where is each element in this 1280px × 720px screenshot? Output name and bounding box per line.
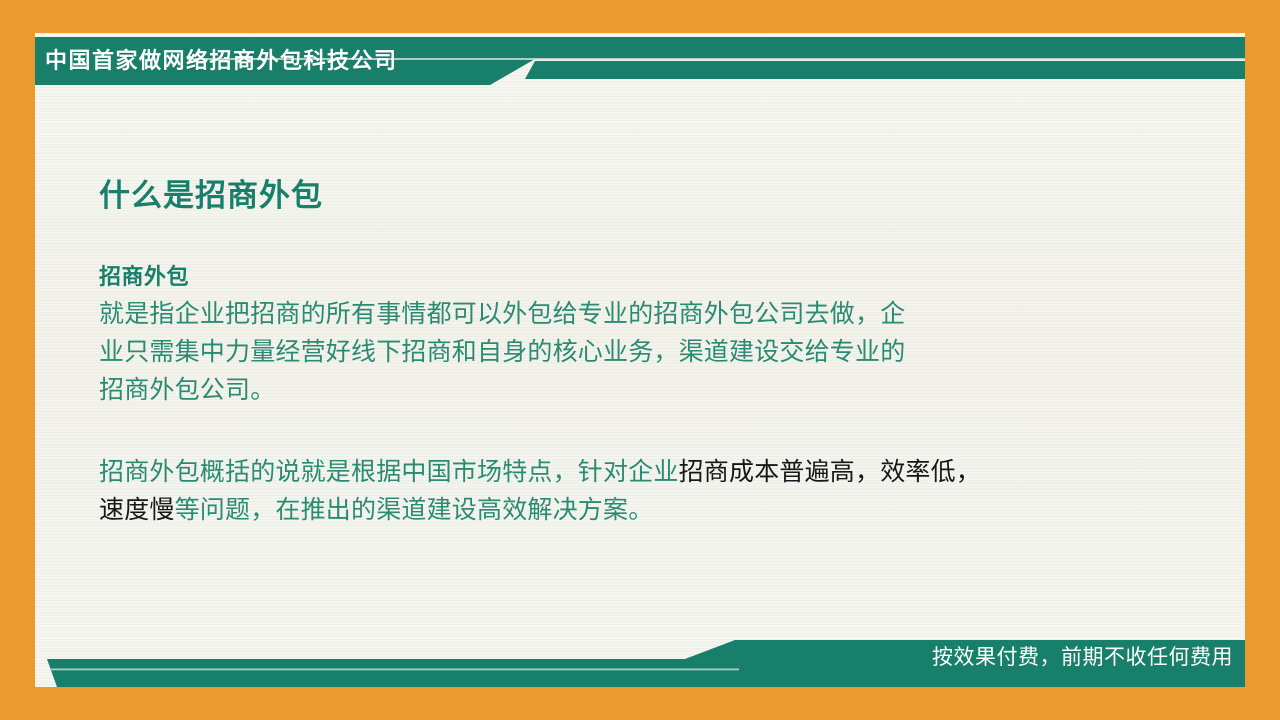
paragraph-line: 招商外包概括的说就是根据中国市场特点，针对企业招商成本普遍高，效率低， bbox=[99, 453, 1219, 491]
slide-canvas: 中国首家做网络招商外包科技公司 什么是招商外包 招商外包 就是指企业把招商的所有… bbox=[0, 0, 1280, 720]
page-title: 什么是招商外包 bbox=[99, 170, 1219, 215]
main-content: 什么是招商外包 招商外包 就是指企业把招商的所有事情都可以外包给专业的招商外包公… bbox=[99, 170, 1219, 529]
footer-tagline: 按效果付费，前期不收任何费用 bbox=[932, 641, 1233, 671]
paragraph-definition: 就是指企业把招商的所有事情都可以外包给专业的招商外包公司去做，企 业只需集中力量… bbox=[99, 295, 1219, 409]
summary-text-dark: 速度慢 bbox=[99, 496, 175, 524]
summary-text-green: 招商外包概括的说就是根据中国市场特点，针对企业 bbox=[99, 458, 679, 486]
paragraph-line: 招商外包公司。 bbox=[99, 371, 1219, 409]
summary-text-dark: 招商成本普遍高，效率低， bbox=[679, 458, 981, 486]
paragraph-summary: 招商外包概括的说就是根据中国市场特点，针对企业招商成本普遍高，效率低， 速度慢等… bbox=[99, 453, 1219, 529]
header-title: 中国首家做网络招商外包科技公司 bbox=[45, 43, 398, 75]
summary-text-green: 等问题，在推出的渠道建设高效解决方案。 bbox=[175, 496, 654, 524]
paragraph-line: 业只需集中力量经营好线下招商和自身的核心业务，渠道建设交给专业的 bbox=[99, 333, 1219, 371]
paragraph-line: 速度慢等问题，在推出的渠道建设高效解决方案。 bbox=[99, 491, 1219, 529]
paragraph-line: 就是指企业把招商的所有事情都可以外包给专业的招商外包公司去做，企 bbox=[99, 295, 1219, 333]
sub-heading: 招商外包 bbox=[99, 259, 1219, 291]
